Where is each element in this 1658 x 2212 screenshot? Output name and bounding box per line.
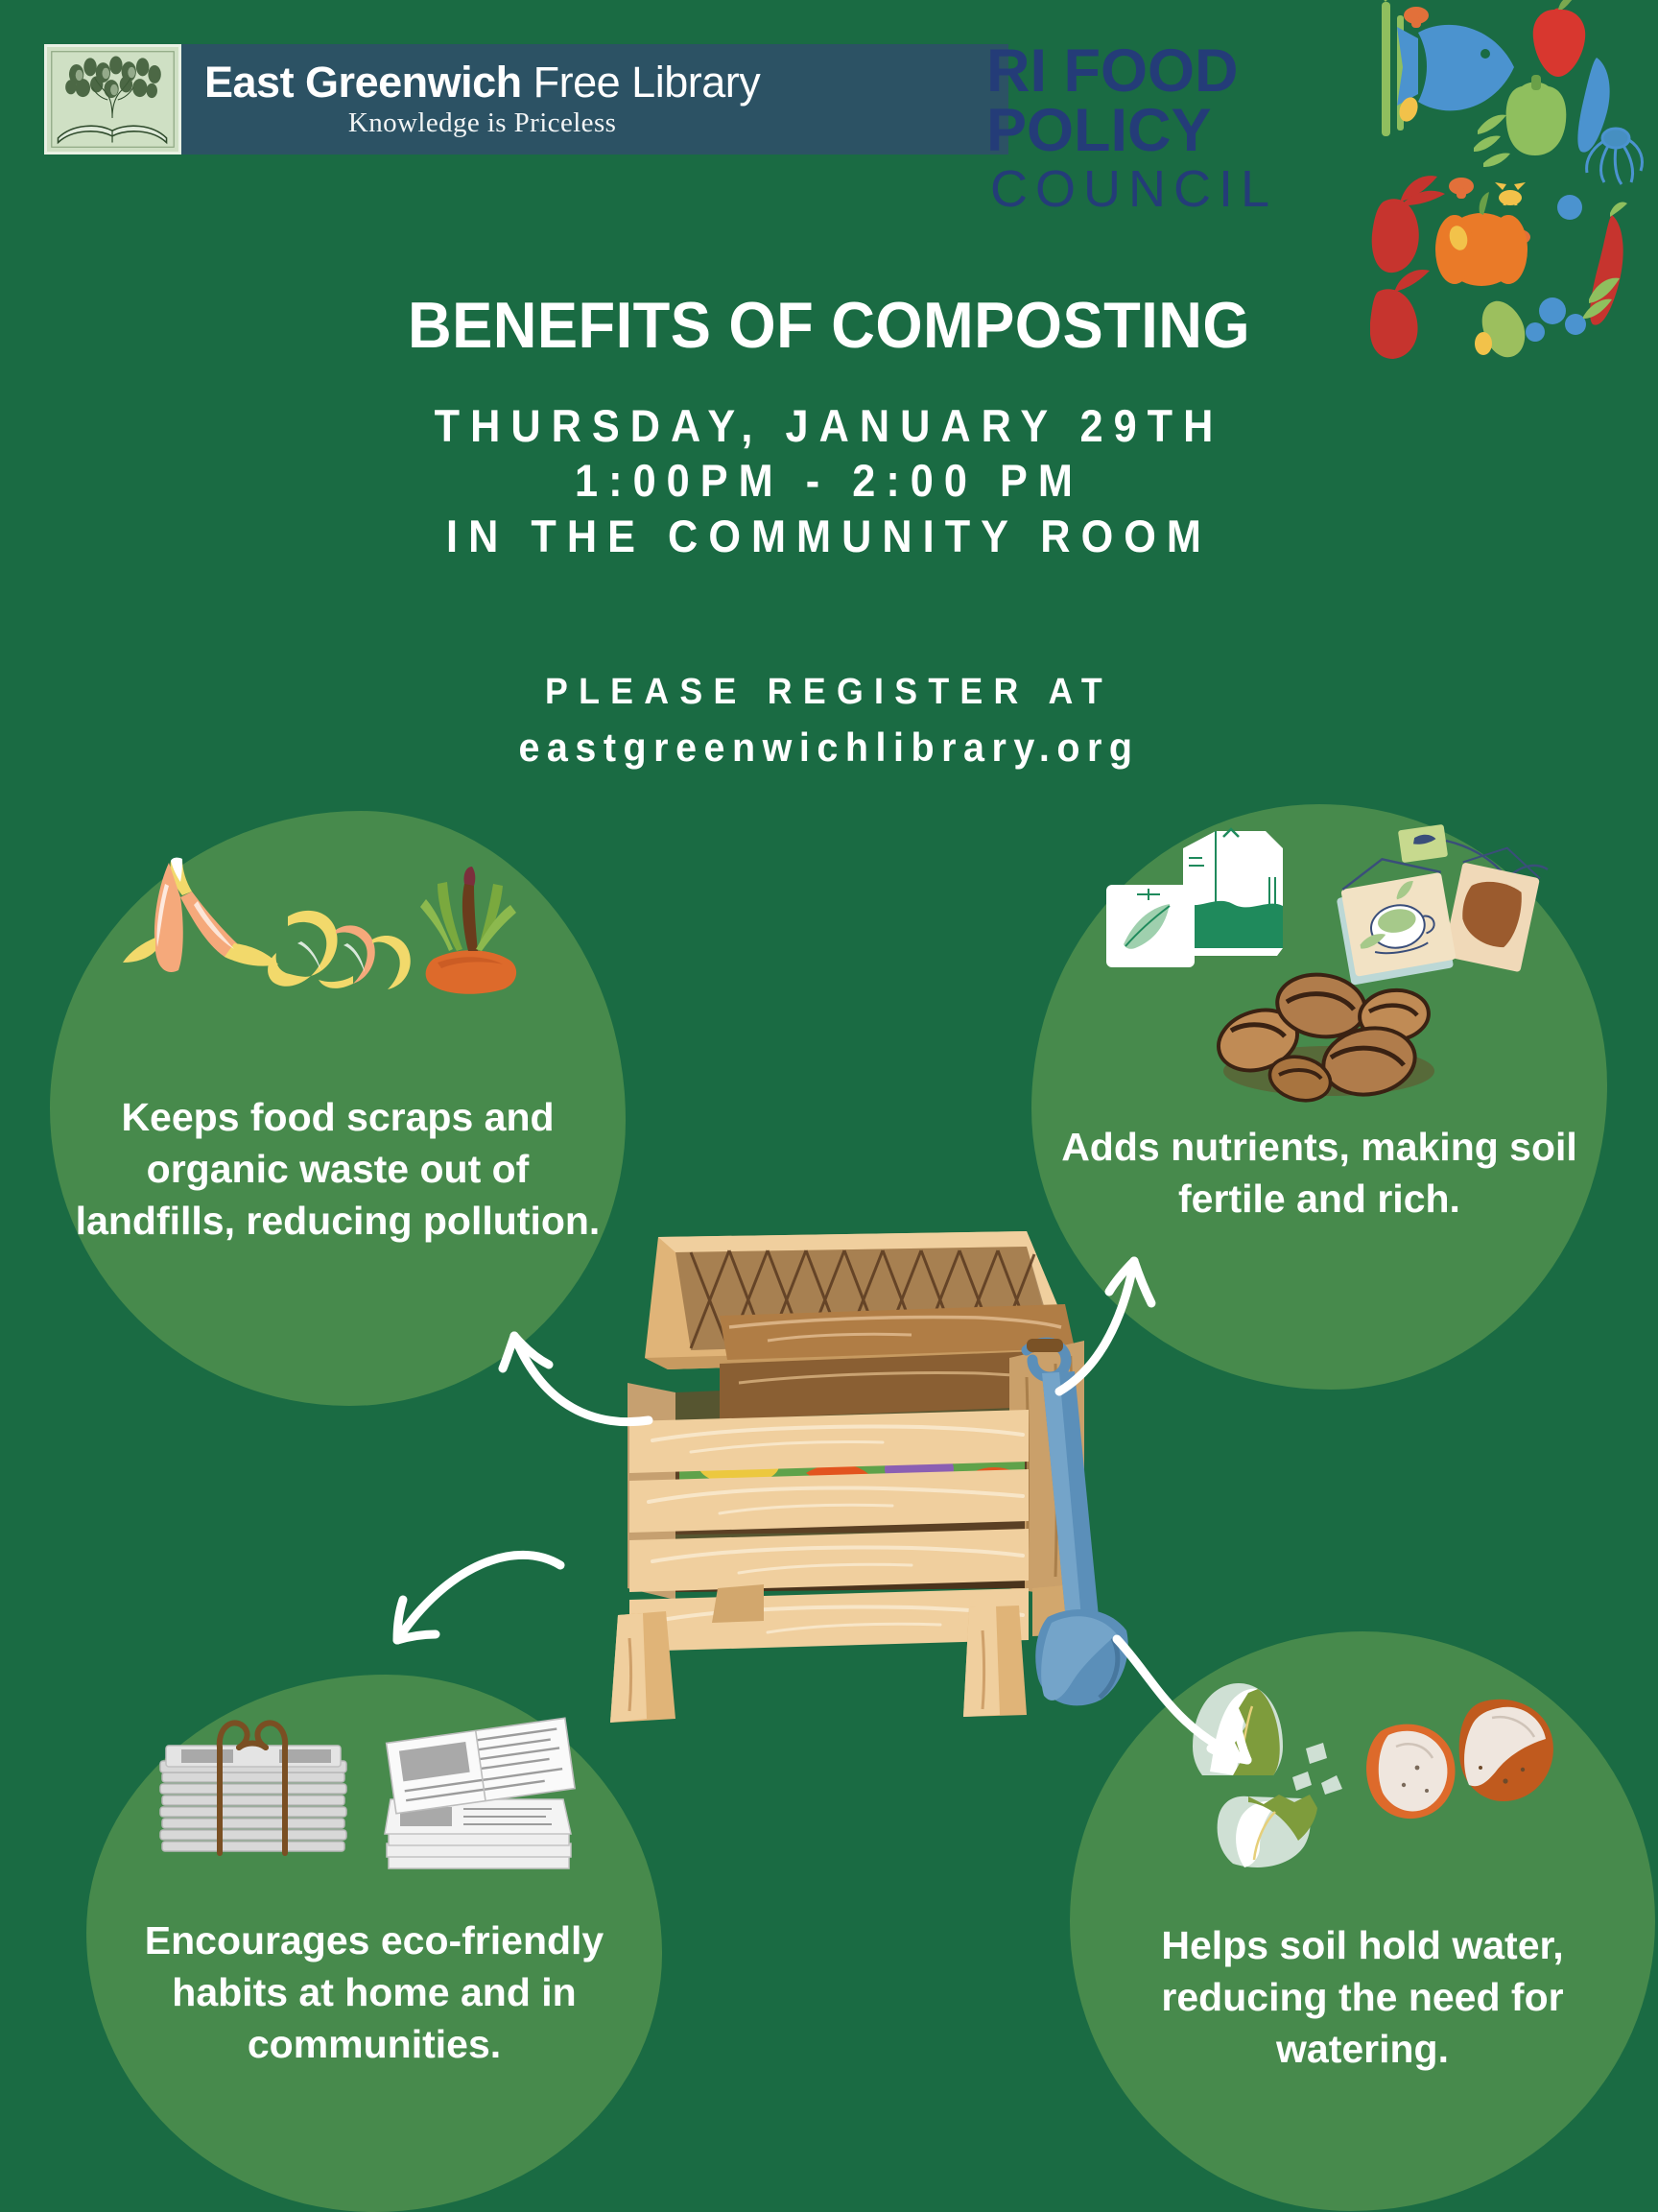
poster-canvas: East Greenwich Free Library Knowledge is… xyxy=(0,0,1658,2211)
page-title: BENEFITS OF COMPOSTING xyxy=(58,288,1599,363)
registration-block: PLEASE REGISTER AT eastgreenwichlibrary.… xyxy=(0,672,1658,771)
benefit-caption: Encourages eco-friendly habits at home a… xyxy=(86,1915,662,2070)
banana-peel-and-carrot-icon xyxy=(100,855,580,1066)
register-url[interactable]: eastgreenwichlibrary.org xyxy=(50,725,1608,771)
arrow-to-benefit-eco-habits xyxy=(355,1521,585,1684)
council-line-3: COUNCIL xyxy=(986,162,1389,217)
benefit-caption: Helps soil hold water, reducing the need… xyxy=(1070,1919,1655,2075)
event-date: THURSDAY, JANUARY 29TH xyxy=(66,398,1592,453)
newspaper-stacks-icon xyxy=(139,1707,609,1909)
register-label: PLEASE REGISTER AT xyxy=(50,672,1608,713)
council-line-1: RI FOOD xyxy=(986,42,1389,102)
event-time: 1:00PM - 2:00 PM xyxy=(66,453,1592,508)
arrow-to-benefit-holds-water xyxy=(1094,1622,1305,1795)
library-name-block: East Greenwich Free Library Knowledge is… xyxy=(181,60,760,139)
tea-bags-and-coffee-beans-icon xyxy=(1070,823,1569,1111)
library-name-bold: East Greenwich xyxy=(204,58,522,107)
council-line-2: POLICY xyxy=(986,102,1389,161)
library-name-light: Free Library xyxy=(522,58,761,107)
tree-and-open-book-icon xyxy=(44,44,181,155)
library-logo-banner: East Greenwich Free Library Knowledge is… xyxy=(44,44,1008,155)
event-location: IN THE COMMUNITY ROOM xyxy=(66,509,1592,563)
library-tagline: Knowledge is Priceless xyxy=(204,107,760,139)
arrow-to-benefit-adds-nutrients xyxy=(1046,1228,1219,1401)
event-details-block: THURSDAY, JANUARY 29TH 1:00PM - 2:00 PM … xyxy=(0,398,1658,563)
arrow-to-benefit-reduces-landfill xyxy=(451,1276,662,1449)
benefit-caption: Keeps food scraps and organic waste out … xyxy=(50,1091,626,1247)
